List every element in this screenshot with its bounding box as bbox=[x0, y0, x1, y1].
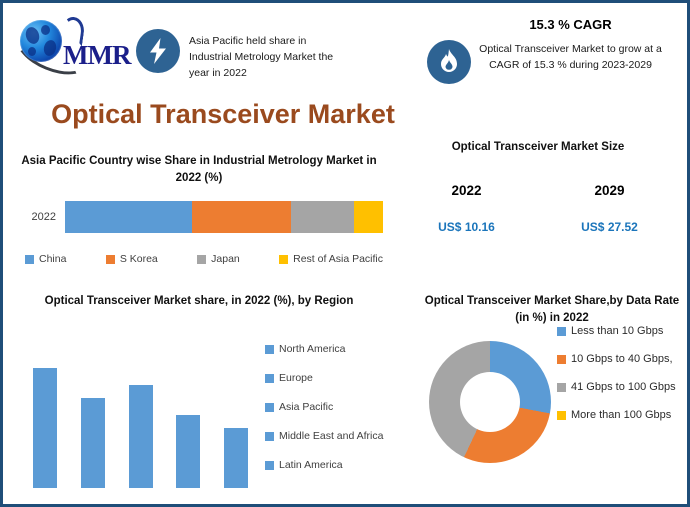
legend-item[interactable]: Asia Pacific bbox=[265, 401, 390, 413]
globe-icon bbox=[20, 20, 62, 62]
header: MMR Asia Pacific held share in Industria… bbox=[3, 3, 687, 95]
market-size-year: 2022 bbox=[395, 183, 538, 198]
legend-item[interactable]: China bbox=[25, 253, 66, 265]
donut-legend: Less than 10 Gbps 10 Gbps to 40 Gbps, 41… bbox=[557, 323, 681, 435]
legend-swatch-icon bbox=[557, 411, 566, 420]
cagr-description: Optical Transceiver Market to grow at a … bbox=[463, 41, 678, 73]
stacked-segment bbox=[65, 201, 192, 233]
legend-item[interactable]: 10 Gbps to 40 Gbps, bbox=[557, 351, 681, 367]
stacked-bar-legend: ChinaS KoreaJapanRest of Asia Pacific bbox=[25, 253, 383, 265]
legend-item[interactable]: S Korea bbox=[106, 253, 158, 265]
legend-item[interactable]: Latin America bbox=[265, 459, 390, 471]
bar bbox=[176, 415, 200, 488]
market-size-year: 2029 bbox=[538, 183, 681, 198]
legend-item[interactable]: Middle East and Africa bbox=[265, 430, 390, 442]
legend-item[interactable]: More than 100 Gbps bbox=[557, 407, 681, 423]
bar bbox=[129, 385, 153, 488]
bar bbox=[81, 398, 105, 488]
cagr-value: 15.3 % CAGR bbox=[463, 17, 678, 32]
legend-item[interactable]: Rest of Asia Pacific bbox=[279, 253, 383, 265]
legend-label: Europe bbox=[279, 372, 313, 384]
donut-hole bbox=[460, 372, 520, 432]
bolt-glyph bbox=[136, 29, 180, 73]
legend-label: Asia Pacific bbox=[279, 401, 333, 413]
legend-label: China bbox=[39, 253, 66, 265]
stacked-bar-row: 2022 bbox=[15, 197, 383, 237]
legend-item[interactable]: Europe bbox=[265, 372, 390, 384]
legend-label: S Korea bbox=[120, 253, 158, 265]
legend-swatch-icon bbox=[557, 355, 566, 364]
page-title: Optical Transceiver Market bbox=[3, 99, 443, 130]
bar bbox=[224, 428, 248, 488]
legend-swatch-icon bbox=[557, 327, 566, 336]
market-size-title: Optical Transceiver Market Size bbox=[395, 139, 681, 156]
legend-item[interactable]: 41 Gbps to 100 Gbps bbox=[557, 379, 681, 395]
legend-label: 10 Gbps to 40 Gbps, bbox=[571, 351, 673, 367]
legend-swatch-icon bbox=[25, 255, 34, 264]
chart-title: Asia Pacific Country wise Share in Indus… bbox=[15, 153, 383, 187]
infographic-root: MMR Asia Pacific held share in Industria… bbox=[0, 0, 690, 507]
legend-label: Rest of Asia Pacific bbox=[293, 253, 383, 265]
logo-text: MMR bbox=[63, 40, 130, 71]
cagr-block: 15.3 % CAGR Optical Transceiver Market t… bbox=[463, 17, 678, 73]
legend-label: North America bbox=[279, 343, 346, 355]
legend-label: Japan bbox=[211, 253, 240, 265]
region-bars bbox=[33, 355, 248, 488]
market-size-column: 2029US$ 27.52 bbox=[538, 183, 681, 234]
legend-swatch-icon bbox=[106, 255, 115, 264]
stacked-axis-label: 2022 bbox=[15, 211, 65, 223]
market-size-value: US$ 10.16 bbox=[395, 220, 538, 234]
market-size-value: US$ 27.52 bbox=[538, 220, 681, 234]
legend-swatch-icon bbox=[265, 432, 274, 441]
legend-swatch-icon bbox=[279, 255, 288, 264]
legend-swatch-icon bbox=[265, 461, 274, 470]
market-size-column: 2022US$ 10.16 bbox=[395, 183, 538, 234]
stacked-segment bbox=[354, 201, 383, 233]
legend-item[interactable]: Less than 10 Gbps bbox=[557, 323, 681, 339]
chart-market-share-by-data-rate: Optical Transceiver Market Share,by Data… bbox=[423, 293, 681, 498]
legend-swatch-icon bbox=[557, 383, 566, 392]
legend-label: Latin America bbox=[279, 459, 343, 471]
stacked-segment bbox=[192, 201, 291, 233]
market-size-columns: 2022US$ 10.162029US$ 27.52 bbox=[395, 183, 681, 234]
legend-item[interactable]: North America bbox=[265, 343, 390, 355]
chart-title: Optical Transceiver Market Share,by Data… bbox=[423, 293, 681, 327]
region-legend: North AmericaEuropeAsia PacificMiddle Ea… bbox=[265, 343, 390, 488]
legend-label: Less than 10 Gbps bbox=[571, 323, 663, 339]
legend-item[interactable]: Japan bbox=[197, 253, 240, 265]
chart-asia-pacific-country-share: Asia Pacific Country wise Share in Indus… bbox=[15, 153, 383, 281]
legend-label: Middle East and Africa bbox=[279, 430, 383, 442]
stacked-segment bbox=[291, 201, 355, 233]
mmr-logo: MMR bbox=[15, 15, 137, 73]
legend-swatch-icon bbox=[265, 345, 274, 354]
stacked-bar bbox=[65, 201, 383, 233]
bolt-icon bbox=[136, 29, 180, 73]
header-note-asia-pacific: Asia Pacific held share in Industrial Me… bbox=[189, 33, 349, 81]
bar bbox=[33, 368, 57, 488]
legend-swatch-icon bbox=[265, 403, 274, 412]
donut-chart bbox=[429, 341, 551, 463]
chart-title: Optical Transceiver Market share, in 202… bbox=[15, 293, 383, 310]
legend-label: 41 Gbps to 100 Gbps bbox=[571, 379, 676, 395]
chart-market-share-by-region: Optical Transceiver Market share, in 202… bbox=[15, 293, 383, 498]
legend-swatch-icon bbox=[197, 255, 206, 264]
legend-label: More than 100 Gbps bbox=[571, 407, 671, 423]
market-size-panel: Optical Transceiver Market Size 2022US$ … bbox=[395, 139, 681, 259]
legend-swatch-icon bbox=[265, 374, 274, 383]
